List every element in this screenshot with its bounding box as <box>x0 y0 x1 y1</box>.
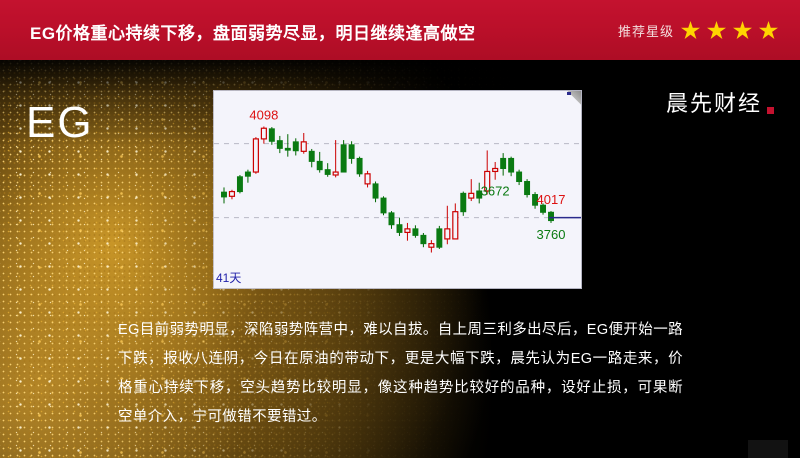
rating-group: 推荐星级 <box>618 21 778 40</box>
star-icon <box>707 21 726 40</box>
star-icon <box>759 21 778 40</box>
product-code: EG <box>26 101 94 145</box>
rating-label: 推荐星级 <box>618 21 674 40</box>
svg-text:4017: 4017 <box>537 192 566 207</box>
svg-text:3672: 3672 <box>481 184 510 199</box>
page-title: EG价格重心持续下移，盘面弱势尽显，明日继续逢高做空 <box>30 19 476 44</box>
brand-dot-icon <box>767 107 774 114</box>
header-bar: EG价格重心持续下移，盘面弱势尽显，明日继续逢高做空 推荐星级 <box>0 0 800 60</box>
chart-annotations: 409840173672376041天 <box>216 107 565 285</box>
article-body: EG目前弱势明显，深陷弱势阵营中，难以自拔。自上周三利多出尽后，EG便开始一路下… <box>118 316 683 432</box>
svg-text:41天: 41天 <box>216 271 241 285</box>
brand-logo: 晨先财经 <box>666 86 774 118</box>
candlestick-chart-panel[interactable]: 409840173672376041天 <box>214 91 581 288</box>
chart-gridlines <box>214 144 581 218</box>
star-icon <box>681 21 700 40</box>
svg-text:3760: 3760 <box>537 227 566 242</box>
brand-name: 晨先财经 <box>666 86 762 118</box>
svg-text:4098: 4098 <box>249 107 278 122</box>
fold-mark-icon <box>567 92 571 95</box>
star-icon <box>733 21 752 40</box>
poster-canvas: EG价格重心持续下移，盘面弱势尽显，明日继续逢高做空 推荐星级 EG 晨先财经 … <box>0 0 800 458</box>
candlestick-chart: 409840173672376041天 <box>214 91 581 288</box>
bottom-corner-block <box>748 440 788 458</box>
